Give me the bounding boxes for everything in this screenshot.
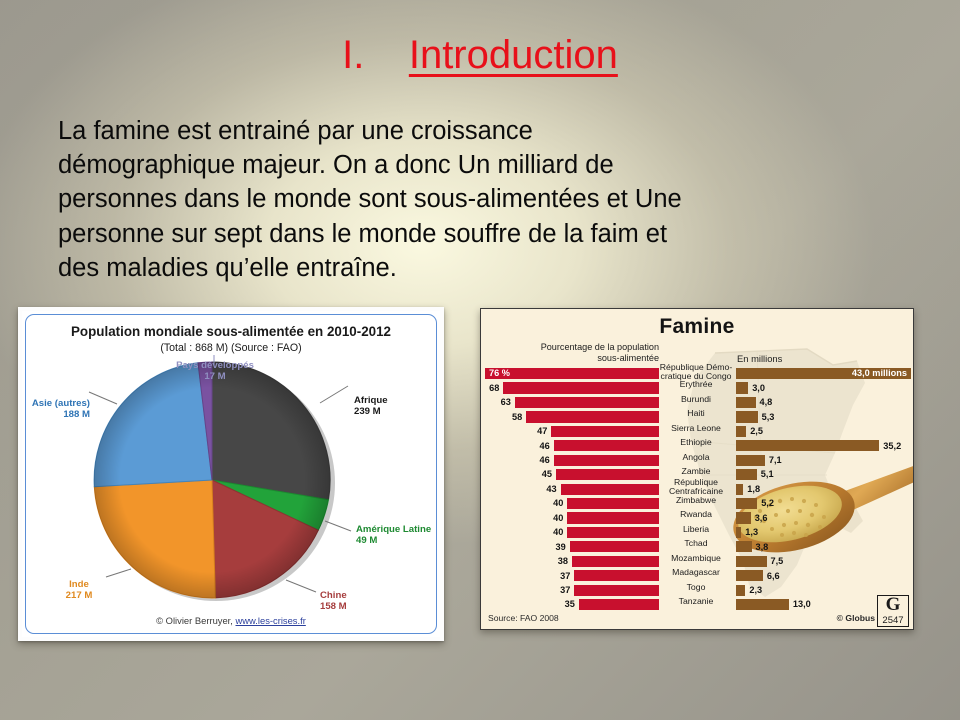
percent-bar-cell: 40: [485, 498, 659, 509]
millions-bar: [736, 585, 745, 596]
pie-chart-svg: [26, 355, 437, 605]
millions-bar: [736, 426, 746, 437]
title-numeral: I.: [342, 33, 364, 77]
country-label: Rwanda: [659, 510, 733, 519]
millions-value: 5,1: [761, 469, 774, 480]
percent-value: 40: [553, 527, 563, 538]
country-label: Tanzanie: [659, 597, 733, 606]
pie-chart-credit: © Olivier Berruyer, www.les-crises.fr: [26, 615, 436, 626]
percent-bar-cell: 68: [485, 382, 659, 393]
percent-bar-cell: 40: [485, 527, 659, 538]
millions-value: 13,0: [793, 599, 811, 610]
millions-value: 5,2: [761, 498, 774, 509]
percent-bar: [515, 397, 659, 408]
percent-bar-cell: 46: [485, 440, 659, 451]
country-label: RépubliqueCentrafricaine: [659, 478, 733, 497]
famine-chart-title: Famine: [481, 315, 913, 339]
millions-bar: [736, 570, 763, 581]
percent-bar: [570, 541, 659, 552]
millions-bar-cell: 3,0: [736, 382, 911, 393]
pie-chart-subtitle: (Total : 868 M) (Source : FAO): [26, 342, 436, 354]
millions-bar: [736, 512, 751, 523]
famine-header-percent: Pourcentage de la population sous-alimen…: [487, 342, 659, 364]
millions-bar-cell: 7,1: [736, 455, 911, 466]
country-label: Madagascar: [659, 568, 733, 577]
millions-value: 7,5: [771, 556, 784, 567]
millions-value: 4,8: [760, 397, 773, 408]
percent-bar: [526, 411, 659, 422]
globus-logo-letter: G: [878, 595, 908, 615]
percent-bar-cell: 40: [485, 512, 659, 523]
percent-bar-cell: 45: [485, 469, 659, 480]
percent-bar-cell: 76 %: [485, 368, 659, 379]
country-label: Erythrée: [659, 380, 733, 389]
millions-value: 43,0 millions: [852, 368, 907, 379]
millions-bar-cell: 35,2: [736, 440, 911, 451]
percent-bar-cell: 46: [485, 455, 659, 466]
percent-bar: [574, 570, 659, 581]
millions-value: 35,2: [883, 441, 901, 452]
percent-value: 46: [539, 441, 549, 452]
credit-link[interactable]: www.les-crises.fr: [236, 615, 306, 626]
millions-value: 2,3: [749, 585, 762, 596]
percent-bar-cell: 47: [485, 426, 659, 437]
millions-bar-cell: 2,5: [736, 426, 911, 437]
country-label: Sierra Leone: [659, 424, 733, 433]
percent-bar: [567, 527, 659, 538]
percent-bar-cell: 39: [485, 541, 659, 552]
country-label: Angola: [659, 453, 733, 462]
percent-value: 37: [560, 571, 570, 582]
famine-chart-image: Famine Pourcentage de la population sous…: [480, 308, 914, 630]
pie-label-chine: Chine 158 M: [320, 590, 392, 613]
millions-value: 6,6: [767, 571, 780, 582]
millions-bar: [736, 440, 879, 451]
millions-bar: [736, 556, 767, 567]
globus-credit: © Globus: [837, 613, 875, 623]
country-label: Haiti: [659, 409, 733, 418]
millions-bar-cell: 4,8: [736, 397, 911, 408]
country-label: Zimbabwe: [659, 496, 733, 505]
country-label: Liberia: [659, 525, 733, 534]
percent-value: 76 %: [489, 368, 510, 379]
percent-bar-cell: 43: [485, 484, 659, 495]
percent-bar: [554, 440, 659, 451]
millions-value: 1,3: [745, 527, 758, 538]
pie-chart-title: Population mondiale sous-alimentée en 20…: [26, 324, 436, 339]
percent-bar: [567, 512, 659, 523]
percent-value: 43: [546, 484, 556, 495]
millions-value: 3,6: [755, 513, 768, 524]
percent-value: 40: [553, 498, 563, 509]
millions-bar: [736, 541, 752, 552]
country-label: Ethiopie: [659, 438, 733, 447]
millions-value: 1,8: [747, 484, 760, 495]
millions-bar-cell: 3,8: [736, 541, 911, 552]
pie-chart-image: Population mondiale sous-alimentée en 20…: [18, 307, 444, 641]
percent-bar: [503, 382, 659, 393]
millions-value: 2,5: [750, 426, 763, 437]
body-paragraph: La famine est entrainé par une croissanc…: [58, 114, 698, 285]
country-label: Togo: [659, 583, 733, 592]
millions-value: 5,3: [762, 412, 775, 423]
millions-bar: [736, 382, 748, 393]
percent-value: 68: [489, 383, 499, 394]
country-label: Burundi: [659, 395, 733, 404]
percent-bar: [485, 368, 659, 379]
percent-bar-cell: 63: [485, 397, 659, 408]
percent-bar: [572, 556, 659, 567]
table-row: 35 Tanzanie 13,0: [481, 598, 913, 612]
millions-bar: [736, 455, 765, 466]
pie-chart-frame: Population mondiale sous-alimentée en 20…: [25, 314, 437, 634]
percent-bar-cell: 38: [485, 556, 659, 567]
millions-bar-cell: 7,5: [736, 556, 911, 567]
millions-bar-cell: 6,6: [736, 570, 911, 581]
millions-bar: [736, 527, 741, 538]
percent-bar-cell: 37: [485, 570, 659, 581]
percent-bar: [554, 455, 659, 466]
pie-label-inde: Inde 217 M: [50, 579, 108, 602]
millions-bar: [736, 484, 743, 495]
percent-value: 38: [558, 556, 568, 567]
percent-bar: [579, 599, 659, 610]
globus-logo-number: 2547: [878, 616, 908, 626]
percent-value: 40: [553, 513, 563, 524]
percent-value: 58: [512, 412, 522, 423]
percent-value: 46: [539, 455, 549, 466]
percent-value: 37: [560, 585, 570, 596]
percent-value: 45: [542, 469, 552, 480]
famine-header-millions: En millions: [737, 353, 782, 364]
millions-bar: [736, 599, 789, 610]
title-word: Introduction: [409, 33, 618, 77]
slide-background: I. Introduction La famine est entrainé p…: [0, 0, 960, 720]
percent-bar: [561, 484, 659, 495]
percent-bar: [567, 498, 659, 509]
credit-author: © Olivier Berruyer,: [156, 615, 235, 626]
pie-label-amerique-latine: Amérique Latine 49 M: [356, 524, 437, 547]
percent-bar-cell: 35: [485, 599, 659, 610]
famine-rows: 76 % République Démo-cratique du Congo 4…: [481, 367, 913, 612]
percent-value: 63: [501, 397, 511, 408]
millions-bar: [736, 498, 757, 509]
page-title: I. Introduction: [0, 34, 960, 76]
percent-bar-cell: 37: [485, 585, 659, 596]
millions-value: 3,8: [756, 542, 769, 553]
millions-bar: [736, 469, 757, 480]
pie-label-asie-autres: Asie (autres) 188 M: [25, 398, 90, 421]
pie-label-afrique: Afrique 239 M: [354, 395, 437, 418]
millions-bar-cell: 3,6: [736, 512, 911, 523]
millions-bar-cell: 43,0 millions: [736, 368, 911, 379]
percent-bar: [551, 426, 659, 437]
millions-bar-cell: 5,1: [736, 469, 911, 480]
millions-bar-cell: 1,3: [736, 527, 911, 538]
country-label: Mozambique: [659, 554, 733, 563]
percent-value: 35: [565, 599, 575, 610]
percent-bar-cell: 58: [485, 411, 659, 422]
millions-bar-cell: 1,8: [736, 484, 911, 495]
millions-value: 7,1: [769, 455, 782, 466]
pie-label-pays-developpes: Pays développés 17 M: [156, 360, 274, 383]
famine-source: Source: FAO 2008: [488, 613, 559, 623]
country-label: Tchad: [659, 539, 733, 548]
millions-bar: [736, 411, 758, 422]
percent-value: 39: [555, 542, 565, 553]
millions-bar-cell: 5,2: [736, 498, 911, 509]
millions-bar-cell: 5,3: [736, 411, 911, 422]
millions-bar: [736, 397, 756, 408]
percent-bar: [556, 469, 659, 480]
globus-logo: G 2547: [877, 595, 909, 627]
percent-value: 47: [537, 426, 547, 437]
millions-value: 3,0: [752, 383, 765, 394]
country-label: Zambie: [659, 467, 733, 476]
percent-bar: [574, 585, 659, 596]
